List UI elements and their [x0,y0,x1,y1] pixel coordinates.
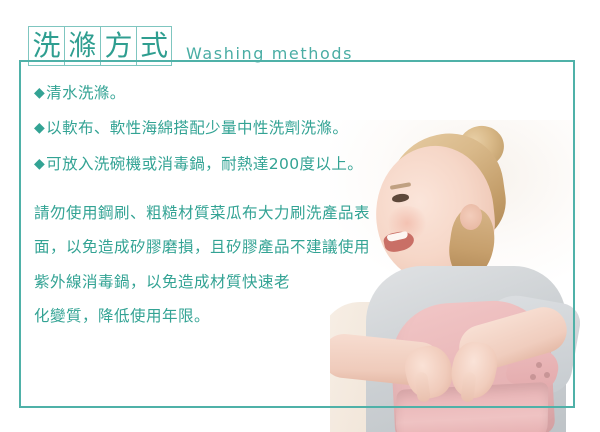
washing-methods-infographic: 洗 滌 方 式 Washing methods ◆ 清水洗滌。 ◆ 以軟布、軟性… [0,0,600,432]
bullet-text: 可放入洗碗機或消毒鍋，耐熱達200度以上。 [46,153,363,176]
bullet-text: 以軟布、軟性海綿搭配少量中性洗劑洗滌。 [46,117,348,140]
paragraph-line: 請勿使用鋼刷、粗糙材質菜瓜布大力刷洗產品表 [34,196,414,230]
warning-paragraph: 請勿使用鋼刷、粗糙材質菜瓜布大力刷洗產品表 面，以免造成矽膠磨損，且矽膠產品不建… [34,196,414,334]
paragraph-line: 化變質，降低使用年限。 [34,299,414,333]
diamond-bullet-icon: ◆ [34,82,45,105]
bullet-item: ◆ 清水洗滌。 [34,82,414,105]
paragraph-line: 面，以免造成矽膠磨損，且矽膠產品不建議使用 [34,230,414,264]
bullet-item: ◆ 以軟布、軟性海綿搭配少量中性洗劑洗滌。 [34,117,414,140]
diamond-bullet-icon: ◆ [34,117,45,140]
bullet-text: 清水洗滌。 [46,82,126,105]
paragraph-line: 紫外線消毒鍋，以免造成材質快速老 [34,265,414,299]
washing-instructions: ◆ 清水洗滌。 ◆ 以軟布、軟性海綿搭配少量中性洗劑洗滌。 ◆ 可放入洗碗機或消… [34,82,414,333]
bullet-item: ◆ 可放入洗碗機或消毒鍋，耐熱達200度以上。 [34,153,414,176]
diamond-bullet-icon: ◆ [34,153,45,176]
